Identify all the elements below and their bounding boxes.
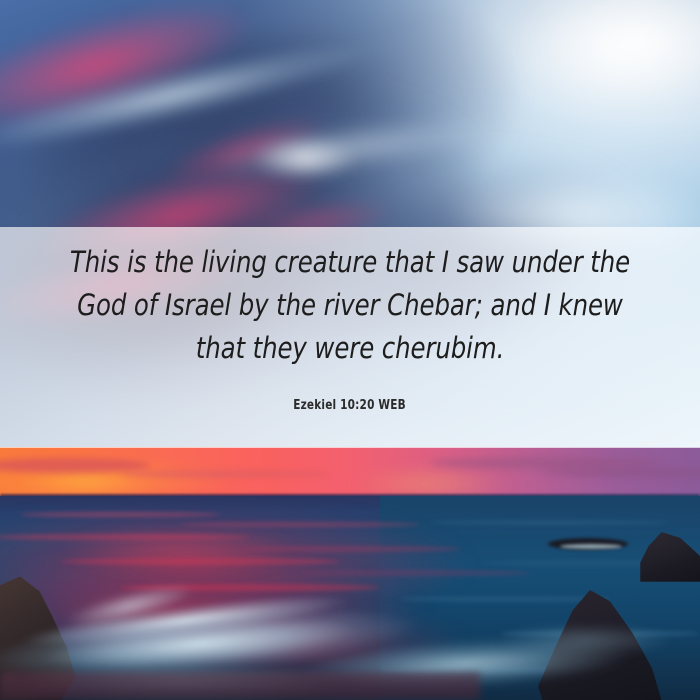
verse-reference: Ezekiel 10:20 WEB xyxy=(294,370,407,413)
sea-foam xyxy=(470,620,700,660)
wave-texture xyxy=(300,570,530,576)
verse-text: This is the living creature that I saw u… xyxy=(60,241,640,370)
verse-image: This is the living creature that I saw u… xyxy=(0,0,700,700)
wave-texture xyxy=(400,596,610,602)
verse-overlay-panel: This is the living creature that I saw u… xyxy=(0,227,700,448)
wave-texture xyxy=(430,520,670,525)
wet-sand xyxy=(0,672,480,700)
wave-texture xyxy=(60,558,340,565)
bright-cloud-streak xyxy=(470,0,700,140)
sunset-cloud xyxy=(120,470,330,478)
wave-texture xyxy=(240,546,460,552)
bright-cloud-streak xyxy=(230,128,380,188)
wave-texture xyxy=(20,512,220,517)
wave-texture xyxy=(0,534,250,540)
rock-foam xyxy=(560,544,622,549)
wave-texture xyxy=(180,522,420,527)
